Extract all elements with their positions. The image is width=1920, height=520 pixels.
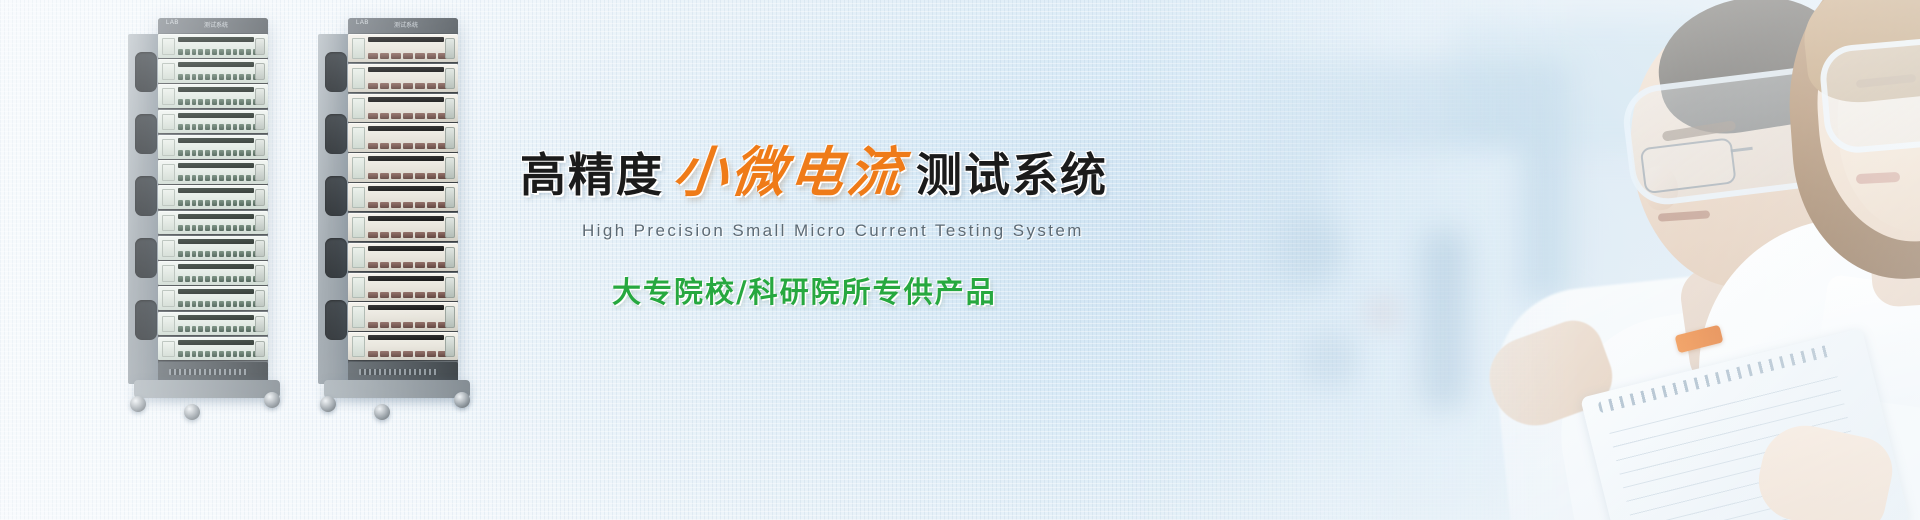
module-indicator-button [239, 99, 244, 105]
module-indicator-button [212, 301, 217, 307]
module-indicator-button [368, 292, 378, 298]
module-indicator-button [427, 173, 437, 179]
rack-vent-slot [325, 114, 347, 154]
module-indicator-button [246, 49, 251, 55]
module-indicator-button [233, 351, 238, 357]
module-indicator-button [427, 202, 437, 208]
module-display [352, 306, 365, 327]
module-side-knob [445, 277, 455, 298]
module-side-knob [255, 290, 265, 307]
module-indicator-button [368, 232, 378, 238]
module-display [352, 277, 365, 298]
module-button-row [368, 172, 448, 180]
module-indicator-button [415, 53, 425, 59]
module-display [352, 68, 365, 89]
module-indicator-button [233, 99, 238, 105]
rack-caster-wheel [264, 392, 280, 408]
module-readout-bar [368, 126, 444, 131]
rack-top-label: LAB 测试系统 [348, 18, 458, 33]
module-indicator-button [415, 322, 425, 328]
module-indicator-button [205, 200, 210, 206]
module-indicator-button [380, 83, 390, 89]
module-indicator-button [380, 173, 390, 179]
module-indicator-button [391, 262, 401, 268]
module-side-knob [445, 157, 455, 178]
rack-caster-wheel [184, 404, 200, 420]
rack-module [348, 123, 458, 151]
rack-module [348, 243, 458, 271]
module-indicator-button [185, 99, 190, 105]
module-indicator-button [178, 124, 183, 130]
module-indicator-button [226, 276, 231, 282]
module-display [162, 290, 175, 307]
module-indicator-button [246, 225, 251, 231]
rack-module [158, 312, 268, 336]
module-indicator-button [391, 83, 401, 89]
module-indicator-button [368, 202, 378, 208]
module-indicator-button [246, 276, 251, 282]
module-indicator-button [212, 276, 217, 282]
module-indicator-button [219, 150, 224, 156]
title-highlight: 小微电流 [670, 128, 910, 207]
module-indicator-button [403, 232, 413, 238]
module-indicator-button [239, 74, 244, 80]
module-indicator-button [185, 301, 190, 307]
module-button-row [368, 112, 448, 120]
module-indicator-button [198, 351, 203, 357]
module-indicator-button [403, 322, 413, 328]
module-indicator-button [185, 351, 190, 357]
module-indicator-button [226, 49, 231, 55]
module-indicator-button [233, 200, 238, 206]
module-indicator-button [415, 351, 425, 357]
rack-top-label: LAB 测试系统 [158, 18, 268, 33]
module-indicator-button [233, 276, 238, 282]
module-display [162, 265, 175, 282]
module-display [162, 240, 175, 257]
module-display [162, 316, 175, 333]
rack-brand-label: LAB [356, 20, 369, 26]
module-readout-bar [178, 214, 254, 219]
module-indicator-button [219, 225, 224, 231]
rack-vent-slot [135, 238, 157, 278]
module-indicator-button [427, 292, 437, 298]
module-indicator-button [246, 74, 251, 80]
module-indicator-button [415, 83, 425, 89]
module-button-row [178, 300, 258, 308]
module-side-knob [255, 63, 265, 80]
module-indicator-button [185, 225, 190, 231]
module-side-knob [445, 336, 455, 357]
module-readout-bar [368, 97, 444, 102]
module-indicator-button [380, 113, 390, 119]
title-lead: 高精度 [520, 139, 664, 205]
module-display [162, 139, 175, 156]
module-indicator-button [368, 322, 378, 328]
module-readout-bar [368, 186, 444, 191]
module-readout-bar [368, 67, 444, 72]
module-indicator-button [427, 53, 437, 59]
rack-caster-wheel [320, 396, 336, 412]
module-readout-bar [368, 276, 444, 281]
module-indicator-button [178, 49, 183, 55]
module-readout-bar [178, 188, 254, 193]
module-indicator-button [205, 74, 210, 80]
module-indicator-button [226, 200, 231, 206]
module-indicator-button [192, 74, 197, 80]
module-indicator-button [192, 150, 197, 156]
module-indicator-button [198, 175, 203, 181]
module-display [352, 217, 365, 238]
module-indicator-button [178, 351, 183, 357]
module-readout-bar [368, 246, 444, 251]
rack-module [158, 337, 268, 361]
module-display [162, 215, 175, 232]
module-display [162, 114, 175, 131]
module-indicator-button [246, 351, 251, 357]
module-button-row [178, 350, 258, 358]
product-banner: LAB 测试系统 LAB 测试系统 [0, 0, 1920, 520]
module-indicator-button [198, 124, 203, 130]
module-indicator-button [427, 113, 437, 119]
module-indicator-button [185, 150, 190, 156]
module-indicator-button [192, 276, 197, 282]
rack-module [348, 153, 458, 181]
module-indicator-button [233, 326, 238, 332]
module-indicator-button [226, 301, 231, 307]
photo-fade-overlay [1120, 0, 1920, 520]
module-indicator-button [233, 175, 238, 181]
module-side-knob [255, 88, 265, 105]
module-indicator-button [219, 124, 224, 130]
rack-base [134, 380, 280, 398]
module-indicator-button [391, 113, 401, 119]
module-indicator-button [233, 301, 238, 307]
module-indicator-button [226, 326, 231, 332]
module-indicator-button [368, 262, 378, 268]
rack-module [158, 34, 268, 58]
rack-module [348, 273, 458, 301]
module-indicator-button [427, 262, 437, 268]
module-indicator-button [246, 251, 251, 257]
module-indicator-button [198, 301, 203, 307]
module-button-row [178, 48, 258, 56]
module-side-knob [445, 247, 455, 268]
module-indicator-button [185, 251, 190, 257]
module-side-knob [255, 265, 265, 282]
module-indicator-button [368, 113, 378, 119]
rack-cabinet: LAB 测试系统 [348, 18, 458, 388]
module-readout-bar [368, 305, 444, 310]
banner-title: 高精度 小微电流 测试系统 [520, 128, 1140, 207]
module-indicator-button [205, 225, 210, 231]
module-readout-bar [178, 264, 254, 269]
module-indicator-button [226, 99, 231, 105]
module-display [162, 164, 175, 181]
module-readout-bar [178, 239, 254, 244]
module-indicator-button [380, 202, 390, 208]
module-display [162, 88, 175, 105]
module-side-knob [445, 306, 455, 327]
module-indicator-button [212, 351, 217, 357]
module-indicator-button [403, 83, 413, 89]
module-indicator-button [219, 74, 224, 80]
module-indicator-button [246, 301, 251, 307]
module-indicator-button [205, 301, 210, 307]
module-indicator-button [212, 251, 217, 257]
module-indicator-button [212, 150, 217, 156]
module-indicator-button [226, 225, 231, 231]
module-indicator-button [427, 322, 437, 328]
connector-strip [169, 369, 248, 375]
module-button-row [368, 82, 448, 90]
rack-brand-label: LAB [166, 20, 179, 26]
module-indicator-button [212, 99, 217, 105]
module-indicator-button [198, 225, 203, 231]
module-indicator-button [239, 225, 244, 231]
module-indicator-button [205, 49, 210, 55]
module-display [352, 187, 365, 208]
rack-module [158, 261, 268, 285]
module-indicator-button [233, 150, 238, 156]
module-indicator-button [403, 173, 413, 179]
module-indicator-button [192, 49, 197, 55]
module-indicator-button [239, 301, 244, 307]
module-button-row [368, 261, 448, 269]
module-indicator-button [239, 351, 244, 357]
module-indicator-button [239, 175, 244, 181]
rack-caster-wheel [130, 396, 146, 412]
module-indicator-button [239, 200, 244, 206]
module-indicator-button [368, 53, 378, 59]
module-indicator-button [403, 351, 413, 357]
module-indicator-button [226, 150, 231, 156]
rack-module [158, 185, 268, 209]
module-indicator-button [246, 99, 251, 105]
rack-module [348, 183, 458, 211]
rack-module [158, 286, 268, 310]
rack-vent-slot [135, 114, 157, 154]
module-button-row [178, 149, 258, 157]
module-readout-bar [178, 138, 254, 143]
module-indicator-button [391, 292, 401, 298]
rack-vent-slot [325, 176, 347, 216]
module-button-row [178, 325, 258, 333]
rack-model-label: 测试系统 [204, 20, 228, 29]
module-indicator-button [219, 49, 224, 55]
module-display [352, 247, 365, 268]
rack-vent-slot [325, 52, 347, 92]
module-display [162, 38, 175, 55]
rack-cabinet: LAB 测试系统 [158, 18, 268, 388]
module-indicator-button [415, 232, 425, 238]
module-readout-bar [178, 87, 254, 92]
module-indicator-button [403, 53, 413, 59]
module-indicator-button [198, 99, 203, 105]
module-indicator-button [239, 49, 244, 55]
module-indicator-button [246, 200, 251, 206]
module-indicator-button [415, 113, 425, 119]
module-indicator-button [212, 326, 217, 332]
rack-caster-wheel [374, 404, 390, 420]
module-indicator-button [192, 200, 197, 206]
module-indicator-button [178, 74, 183, 80]
title-tail: 测试系统 [916, 139, 1108, 205]
banner-subtitle-chinese: 大专院校/科研院所专供产品 [612, 269, 1140, 311]
module-indicator-button [403, 262, 413, 268]
module-indicator-button [226, 74, 231, 80]
module-indicator-button [192, 175, 197, 181]
module-indicator-button [403, 143, 413, 149]
rack-module [158, 211, 268, 235]
module-readout-bar [178, 163, 254, 168]
module-side-knob [445, 98, 455, 119]
module-indicator-button [391, 322, 401, 328]
module-indicator-button [185, 276, 190, 282]
module-readout-bar [368, 156, 444, 161]
rack-module [348, 332, 458, 360]
rack-module [348, 213, 458, 241]
module-indicator-button [178, 301, 183, 307]
module-indicator-button [380, 232, 390, 238]
module-indicator-button [233, 225, 238, 231]
module-indicator-button [192, 99, 197, 105]
module-button-row [178, 73, 258, 81]
module-indicator-button [185, 74, 190, 80]
module-readout-bar [178, 37, 254, 42]
module-readout-bar [368, 37, 444, 42]
module-indicator-button [212, 74, 217, 80]
module-indicator-button [368, 173, 378, 179]
rack-vent-slot [325, 238, 347, 278]
module-button-row [368, 291, 448, 299]
module-indicator-button [219, 301, 224, 307]
module-indicator-button [427, 83, 437, 89]
module-indicator-button [226, 351, 231, 357]
module-button-row [178, 275, 258, 283]
module-indicator-button [192, 225, 197, 231]
module-side-knob [255, 316, 265, 333]
rack-module [348, 302, 458, 330]
module-side-knob [445, 127, 455, 148]
module-button-row [368, 321, 448, 329]
module-indicator-button [391, 351, 401, 357]
module-display [162, 189, 175, 206]
module-side-knob [445, 68, 455, 89]
module-indicator-button [380, 351, 390, 357]
module-side-knob [255, 38, 265, 55]
module-side-knob [255, 341, 265, 358]
module-side-knob [445, 38, 455, 59]
module-indicator-button [226, 251, 231, 257]
rack-module [158, 110, 268, 134]
module-indicator-button [212, 175, 217, 181]
rack-module [158, 135, 268, 159]
module-indicator-button [239, 251, 244, 257]
module-indicator-button [233, 74, 238, 80]
module-indicator-button [212, 200, 217, 206]
module-side-knob [255, 164, 265, 181]
module-indicator-button [212, 49, 217, 55]
module-indicator-button [185, 175, 190, 181]
module-button-row [368, 201, 448, 209]
module-indicator-button [178, 99, 183, 105]
module-readout-bar [178, 62, 254, 67]
module-side-knob [255, 240, 265, 257]
module-button-row [178, 250, 258, 258]
module-button-row [368, 231, 448, 239]
module-indicator-button [198, 200, 203, 206]
module-indicator-button [178, 225, 183, 231]
module-button-row [368, 52, 448, 60]
module-indicator-button [427, 351, 437, 357]
module-indicator-button [178, 175, 183, 181]
module-indicator-button [178, 276, 183, 282]
rack-module [158, 84, 268, 108]
rack-vent-slot [135, 52, 157, 92]
module-indicator-button [198, 74, 203, 80]
module-indicator-button [178, 150, 183, 156]
module-button-row [178, 199, 258, 207]
module-indicator-button [205, 150, 210, 156]
module-indicator-button [239, 150, 244, 156]
rack-module [348, 64, 458, 92]
module-button-row [368, 142, 448, 150]
module-display [352, 38, 365, 59]
module-indicator-button [380, 262, 390, 268]
module-indicator-button [185, 200, 190, 206]
module-indicator-button [205, 326, 210, 332]
module-side-knob [255, 139, 265, 156]
module-indicator-button [239, 326, 244, 332]
module-indicator-button [192, 251, 197, 257]
module-indicator-button [415, 173, 425, 179]
module-indicator-button [178, 251, 183, 257]
module-readout-bar [178, 315, 254, 320]
module-indicator-button [427, 232, 437, 238]
rack-vent-slot [325, 300, 347, 340]
module-indicator-button [205, 124, 210, 130]
module-button-row [368, 350, 448, 358]
module-indicator-button [246, 124, 251, 130]
module-button-row [178, 123, 258, 131]
module-indicator-button [205, 99, 210, 105]
module-indicator-button [239, 276, 244, 282]
module-readout-bar [178, 289, 254, 294]
module-display [162, 63, 175, 80]
module-indicator-button [219, 251, 224, 257]
rack-module [348, 94, 458, 122]
module-side-knob [255, 215, 265, 232]
module-side-knob [255, 189, 265, 206]
module-button-row [178, 174, 258, 182]
module-indicator-button [192, 124, 197, 130]
module-indicator-button [415, 292, 425, 298]
module-indicator-button [192, 326, 197, 332]
module-indicator-button [246, 150, 251, 156]
module-indicator-button [219, 99, 224, 105]
module-indicator-button [380, 143, 390, 149]
module-indicator-button [403, 292, 413, 298]
rack-base [324, 380, 470, 398]
module-indicator-button [198, 150, 203, 156]
module-indicator-button [233, 49, 238, 55]
rack-vent-slot [135, 300, 157, 340]
module-indicator-button [391, 202, 401, 208]
rack-module [158, 160, 268, 184]
rack-module [348, 34, 458, 62]
rack-model-label: 测试系统 [394, 20, 418, 29]
